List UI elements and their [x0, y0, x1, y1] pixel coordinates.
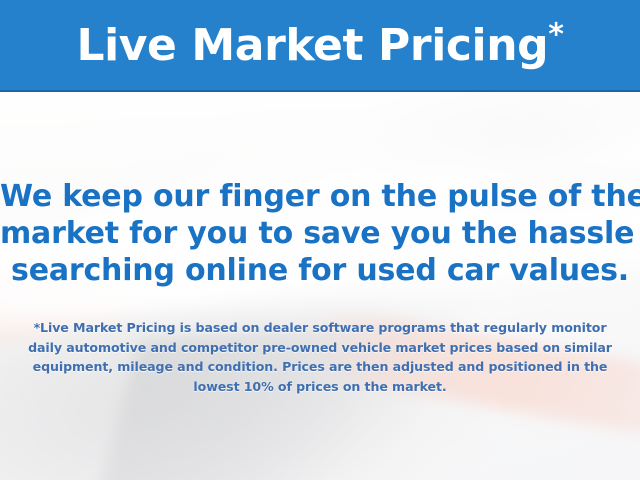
- fineprint-line-3: equipment, mileage and condition. Prices…: [20, 357, 620, 377]
- page-title-text: Live Market Pricing: [76, 20, 548, 71]
- fineprint-disclaimer: *Live Market Pricing is based on dealer …: [20, 318, 620, 396]
- headline-line-1: We keep our finger on the pulse of the: [0, 178, 640, 215]
- page-title: Live Market Pricing*: [76, 24, 563, 68]
- live-market-pricing-banner: Live Market Pricing* We keep our finger …: [0, 0, 640, 480]
- headline-line-2: market for you to save you the hassle of: [0, 215, 640, 252]
- headline-line-3: searching online for used car values.: [0, 252, 640, 289]
- headline: We keep our finger on the pulse of the m…: [0, 178, 640, 289]
- fineprint-line-4: lowest 10% of prices on the market.: [20, 377, 620, 397]
- fineprint-line-1: *Live Market Pricing is based on dealer …: [20, 318, 620, 338]
- page-title-asterisk: *: [548, 17, 563, 52]
- fineprint-line-2: daily automotive and competitor pre-owne…: [20, 338, 620, 358]
- header-band: Live Market Pricing*: [0, 0, 640, 92]
